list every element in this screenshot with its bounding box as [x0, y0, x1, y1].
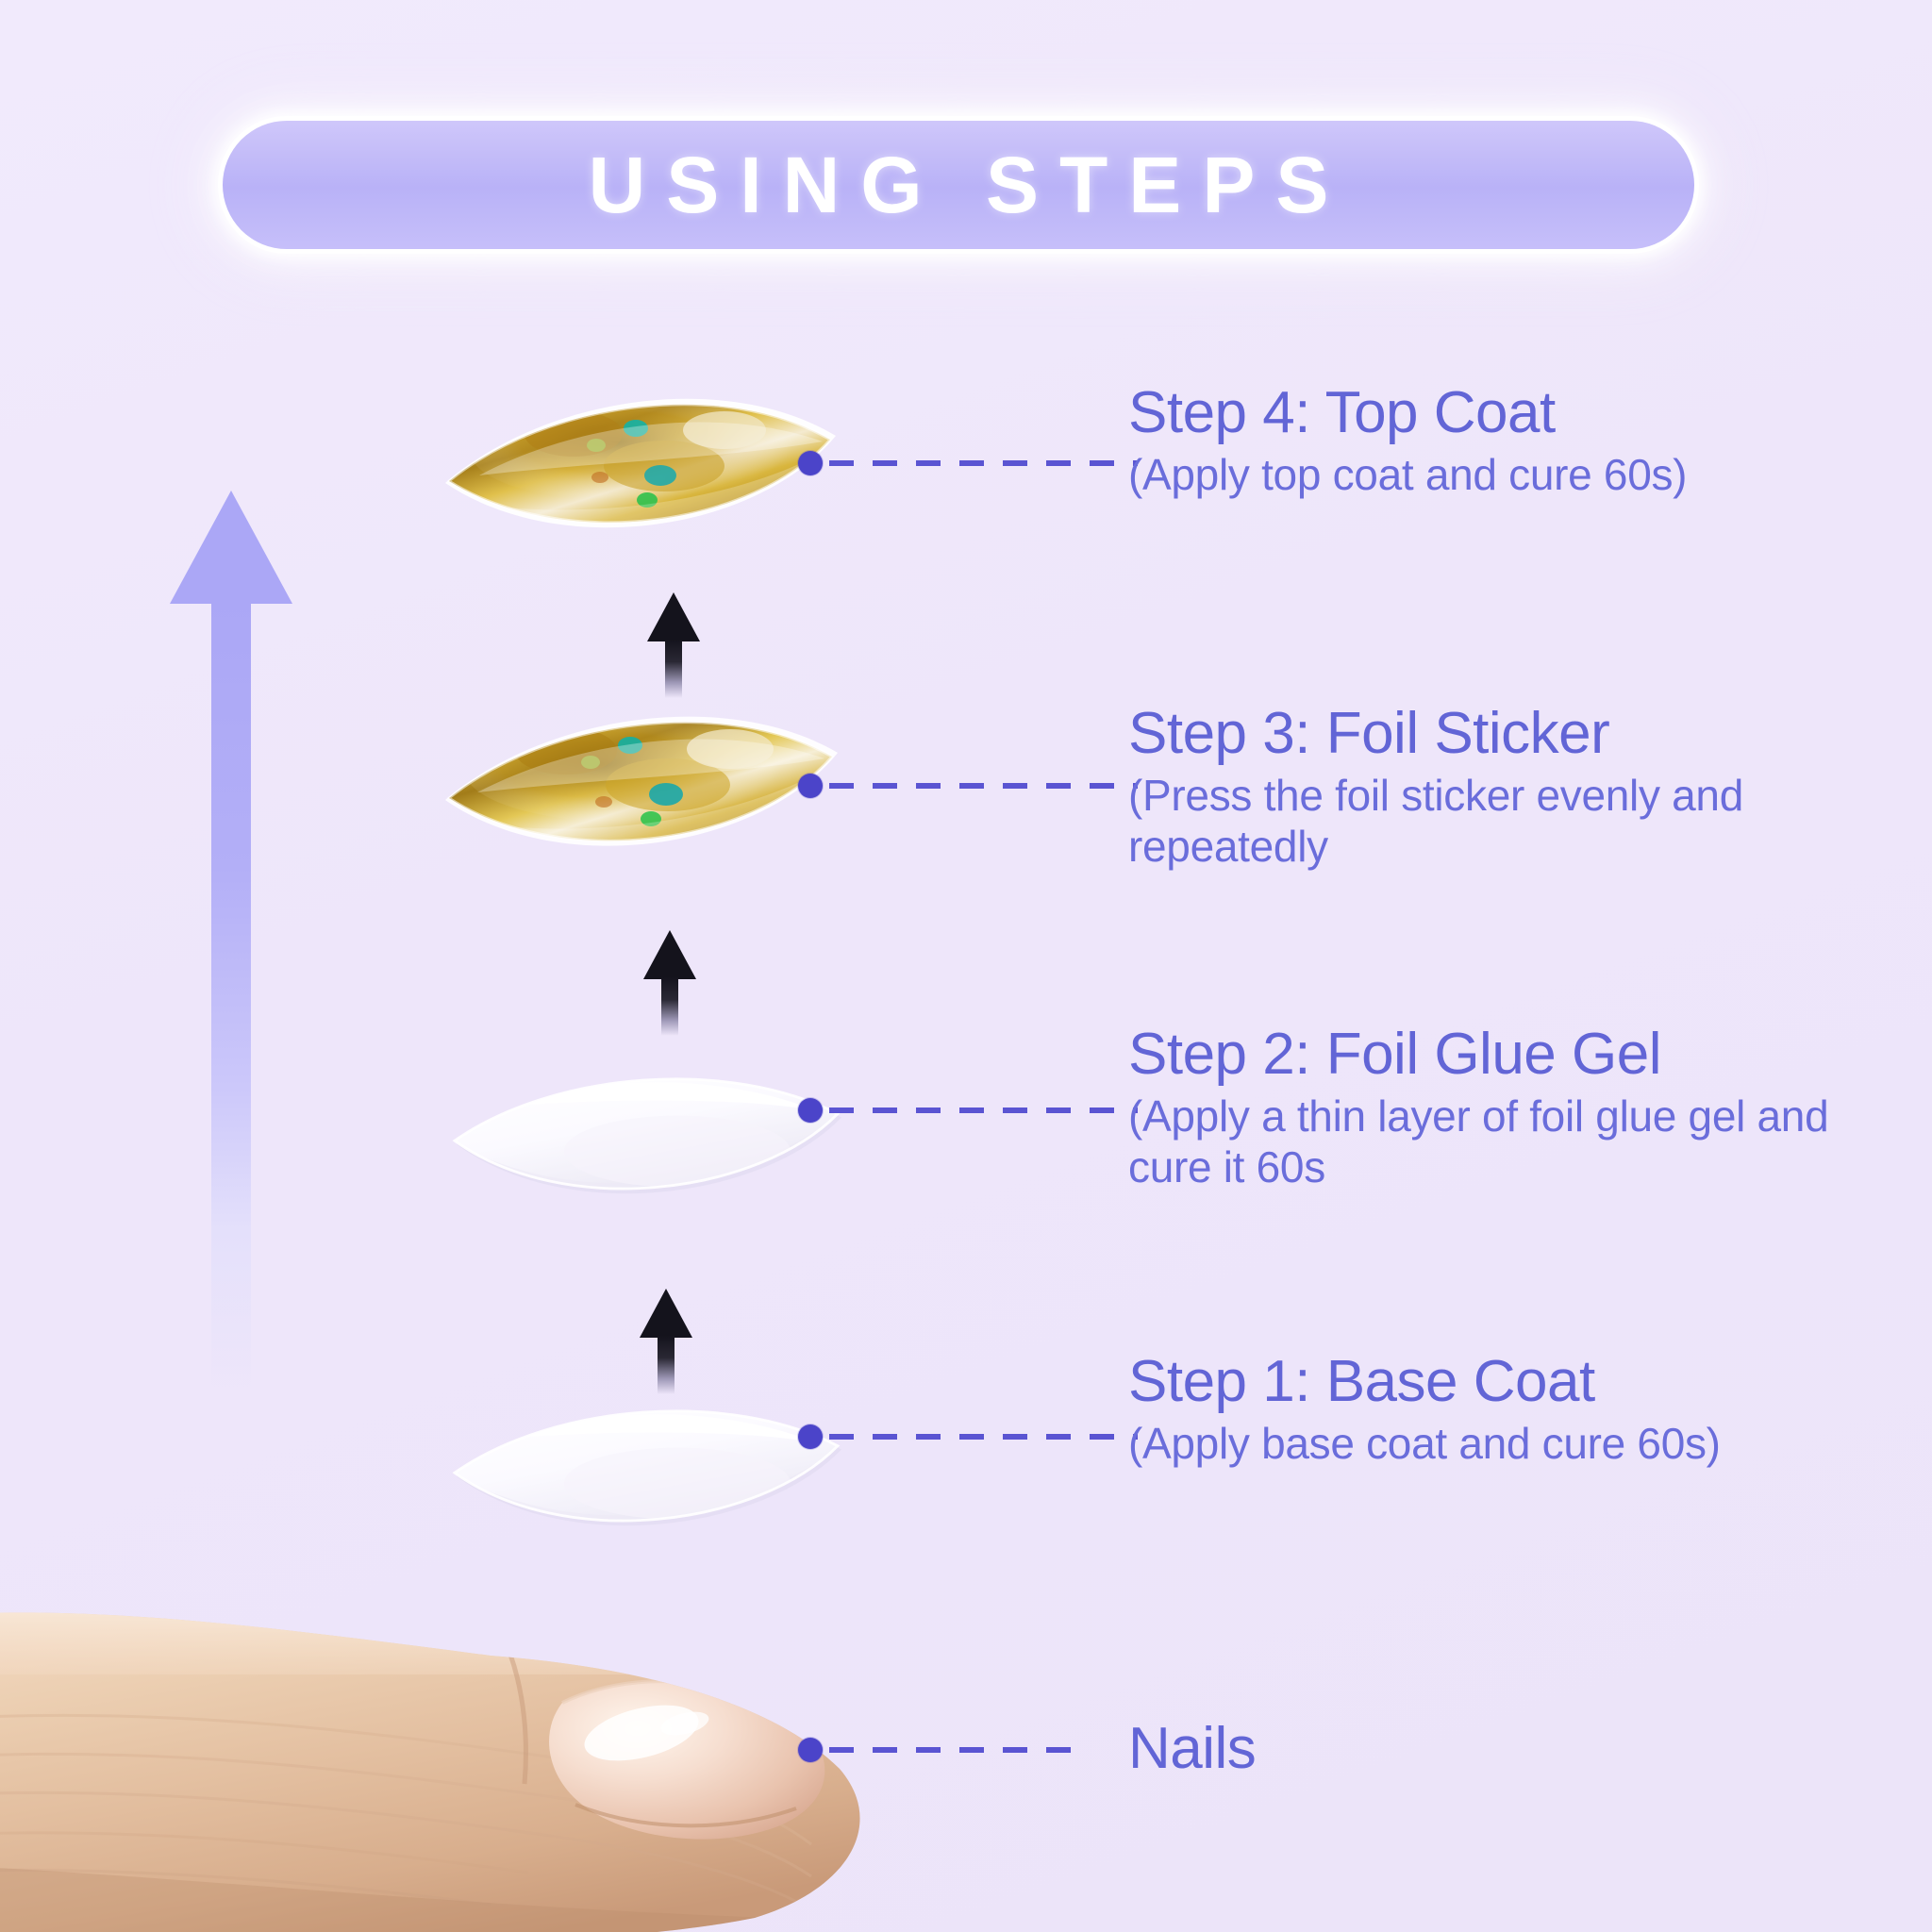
leader-dot-icon — [798, 1424, 823, 1449]
step-2-subtitle: (Apply a thin layer of foil glue gel and… — [1128, 1091, 1845, 1193]
up-arrow-icon-3-to-4 — [647, 592, 700, 698]
clear-nail-icon — [441, 1055, 857, 1234]
leader-dot-icon — [798, 774, 823, 798]
nail-layer-base-coat — [441, 1387, 857, 1566]
large-up-arrow-icon — [170, 491, 292, 1387]
large-up-arrow-shaft — [211, 602, 251, 1387]
leader-dash — [829, 1434, 1138, 1440]
leader-dash — [829, 1747, 1081, 1753]
nail-layer-foil-sticker — [441, 696, 857, 875]
step-2-title: Step 2: Foil Glue Gel — [1128, 1024, 1845, 1085]
leader-dot-icon — [798, 451, 823, 475]
large-up-arrow-head — [170, 491, 292, 604]
leader-line-step-1 — [798, 1424, 1138, 1449]
leader-dot-icon — [798, 1738, 823, 1762]
up-arrow-shaft — [658, 1336, 675, 1394]
up-arrow-shaft — [661, 977, 678, 1036]
header-banner: USING STEPS — [223, 121, 1694, 249]
nails-label: Nails — [1128, 1715, 1256, 1782]
step-1-title: Step 1: Base Coat — [1128, 1351, 1845, 1412]
up-arrow-head — [643, 930, 696, 979]
finger-photo — [0, 1561, 906, 1932]
leader-line-step-2 — [798, 1098, 1138, 1123]
gold-foil-sticker-icon — [441, 696, 857, 875]
leader-dash — [829, 460, 1138, 466]
up-arrow-head — [647, 592, 700, 641]
step-block-2: Step 2: Foil Glue Gel (Apply a thin laye… — [1128, 1024, 1845, 1193]
leader-line-nails — [798, 1738, 1081, 1762]
step-block-4: Step 4: Top Coat (Apply top coat and cur… — [1128, 382, 1845, 500]
leader-dash — [829, 783, 1138, 789]
page-title: USING STEPS — [223, 121, 1694, 249]
clear-nail-icon — [441, 1387, 857, 1566]
step-4-title: Step 4: Top Coat — [1128, 382, 1845, 443]
up-arrow-shaft — [665, 640, 682, 698]
nail-layer-top-coat — [441, 375, 857, 555]
gold-foil-nail-icon — [441, 375, 857, 555]
up-arrow-icon-2-to-3 — [643, 930, 696, 1036]
step-1-subtitle: (Apply base coat and cure 60s) — [1128, 1418, 1845, 1469]
leader-line-step-3 — [798, 774, 1138, 798]
step-4-subtitle: (Apply top coat and cure 60s) — [1128, 449, 1845, 500]
nail-layer-glue-gel — [441, 1055, 857, 1234]
step-block-3: Step 3: Foil Sticker (Press the foil sti… — [1128, 703, 1845, 873]
leader-dash — [829, 1108, 1138, 1113]
step-3-title: Step 3: Foil Sticker — [1128, 703, 1845, 764]
infographic-canvas: USING STEPS — [0, 0, 1932, 1932]
up-arrow-head — [640, 1289, 692, 1338]
step-3-subtitle: (Press the foil sticker evenly and repea… — [1128, 770, 1845, 873]
step-block-1: Step 1: Base Coat (Apply base coat and c… — [1128, 1351, 1845, 1469]
leader-line-step-4 — [798, 451, 1138, 475]
leader-dot-icon — [798, 1098, 823, 1123]
up-arrow-icon-1-to-2 — [640, 1289, 692, 1394]
